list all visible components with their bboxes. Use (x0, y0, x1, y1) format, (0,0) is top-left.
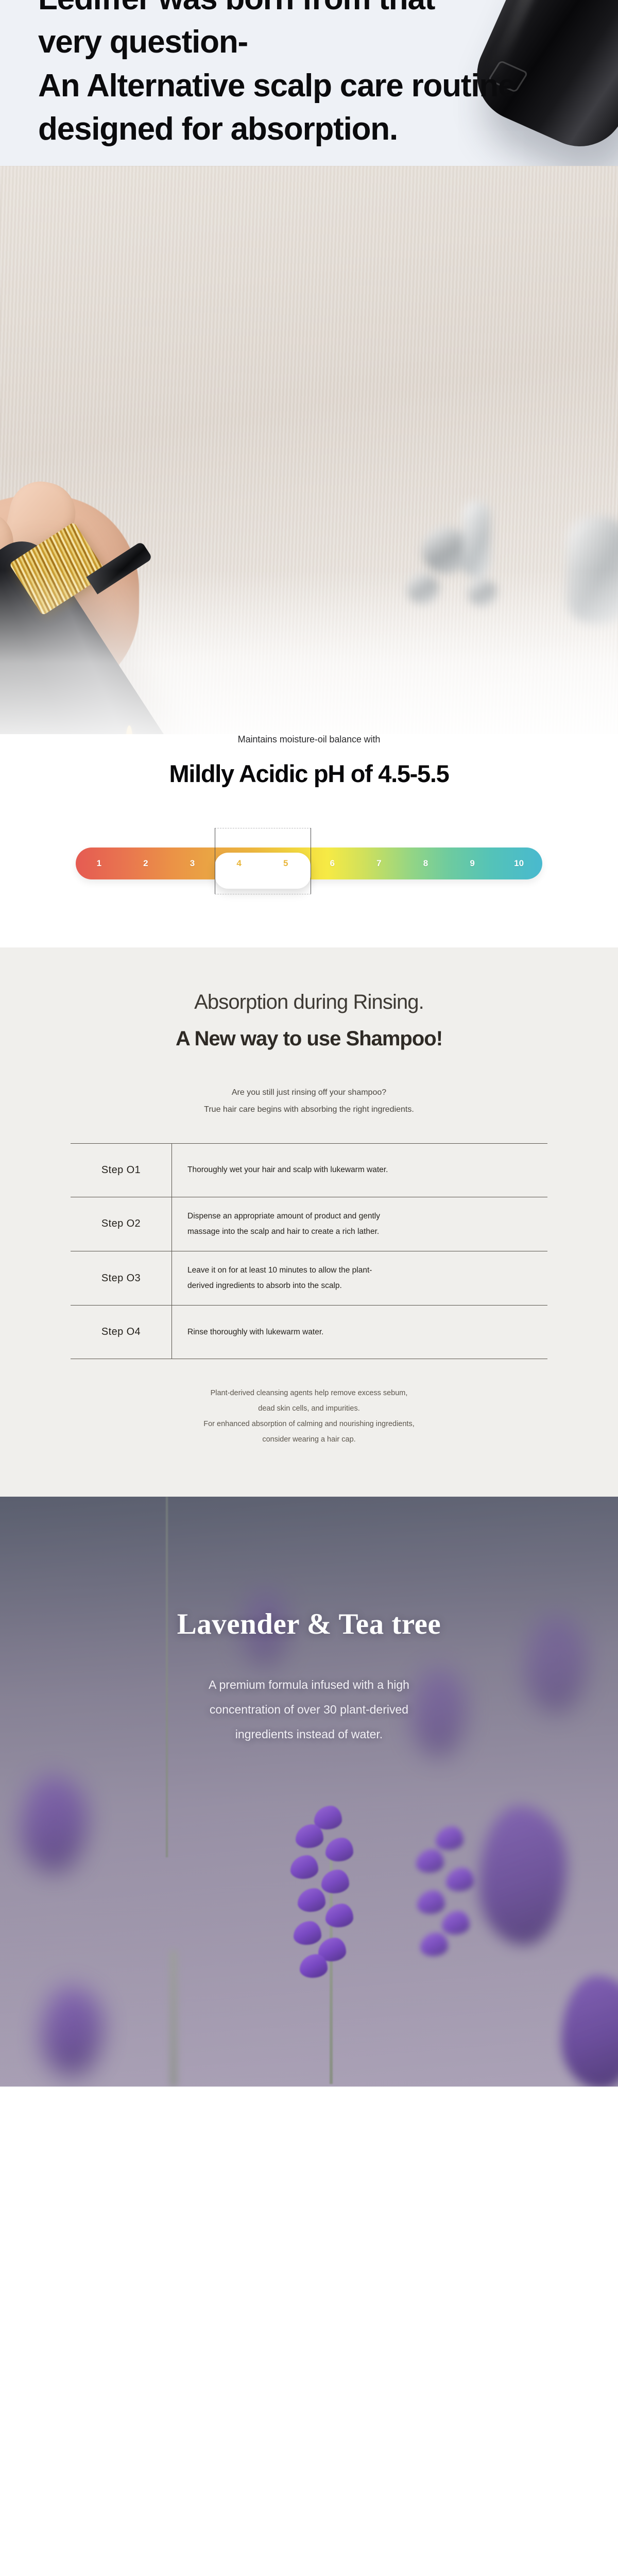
steps-heading-secondary: A New way to use Shampoo! (0, 1027, 618, 1050)
steps-lead-text: Are you still just rinsing off your sham… (0, 1084, 618, 1118)
ph-number: 8 (402, 858, 449, 869)
table-row: Step O1 Thoroughly wet your hair and sca… (71, 1144, 547, 1197)
steps-heading-primary: Absorption during Rinsing. (0, 991, 618, 1014)
ph-marker-line-left (215, 828, 215, 894)
ph-number-highlighted: 4 (216, 858, 263, 869)
ph-section: Maintains moisture-oil balance with Mild… (0, 734, 618, 947)
product-photo-section (0, 166, 618, 792)
steps-footnote: Plant-derived cleansing agents help remo… (0, 1386, 618, 1447)
ph-dashed-line-top (215, 828, 311, 828)
intro-section: Lediffer was born from that very questio… (0, 0, 618, 166)
table-row: Step O2 Dispense an appropriate amount o… (71, 1197, 547, 1251)
table-row: Step O3 Leave it on for at least 10 minu… (71, 1251, 547, 1306)
ph-number: 10 (495, 858, 542, 869)
ph-number: 6 (309, 858, 356, 869)
ph-number: 3 (169, 858, 216, 869)
ph-kicker: Maintains moisture-oil balance with (0, 734, 618, 745)
ph-number: 9 (449, 858, 496, 869)
step-label: Step O4 (71, 1306, 171, 1359)
step-description: Rinse thoroughly with lukewarm water. (171, 1306, 547, 1359)
steps-table: Step O1 Thoroughly wet your hair and sca… (71, 1143, 547, 1360)
ph-number: 7 (356, 858, 403, 869)
usage-steps-section: Absorption during Rinsing. A New way to … (0, 947, 618, 1497)
intro-headline: Lediffer was born from that very questio… (38, 0, 515, 151)
ph-scale: 1 2 3 4 5 6 7 8 9 10 (62, 835, 556, 887)
product-detail-page: Lediffer was born from that very questio… (0, 0, 618, 2087)
step-description: Dispense an appropriate amount of produc… (171, 1197, 547, 1251)
ph-number: 2 (123, 858, 169, 869)
ph-number: 1 (76, 858, 123, 869)
lavender-section: Lavender & Tea tree A premium formula in… (0, 1497, 618, 2087)
ph-number-highlighted: 5 (262, 858, 309, 869)
lavender-body-text: A premium formula infused with a high co… (0, 1673, 618, 1747)
step-description: Leave it on for at least 10 minutes to a… (171, 1251, 547, 1305)
step-label: Step O3 (71, 1251, 171, 1305)
lavender-title: Lavender & Tea tree (0, 1497, 618, 1641)
ph-dashed-line-bottom (215, 894, 311, 894)
ph-marker-line-right (311, 828, 311, 894)
step-description: Thoroughly wet your hair and scalp with … (171, 1144, 547, 1197)
ph-title: Mildly Acidic pH of 4.5-5.5 (0, 759, 618, 788)
table-row: Step O4 Rinse thoroughly with lukewarm w… (71, 1306, 547, 1359)
step-label: Step O2 (71, 1197, 171, 1251)
step-label: Step O1 (71, 1144, 171, 1197)
